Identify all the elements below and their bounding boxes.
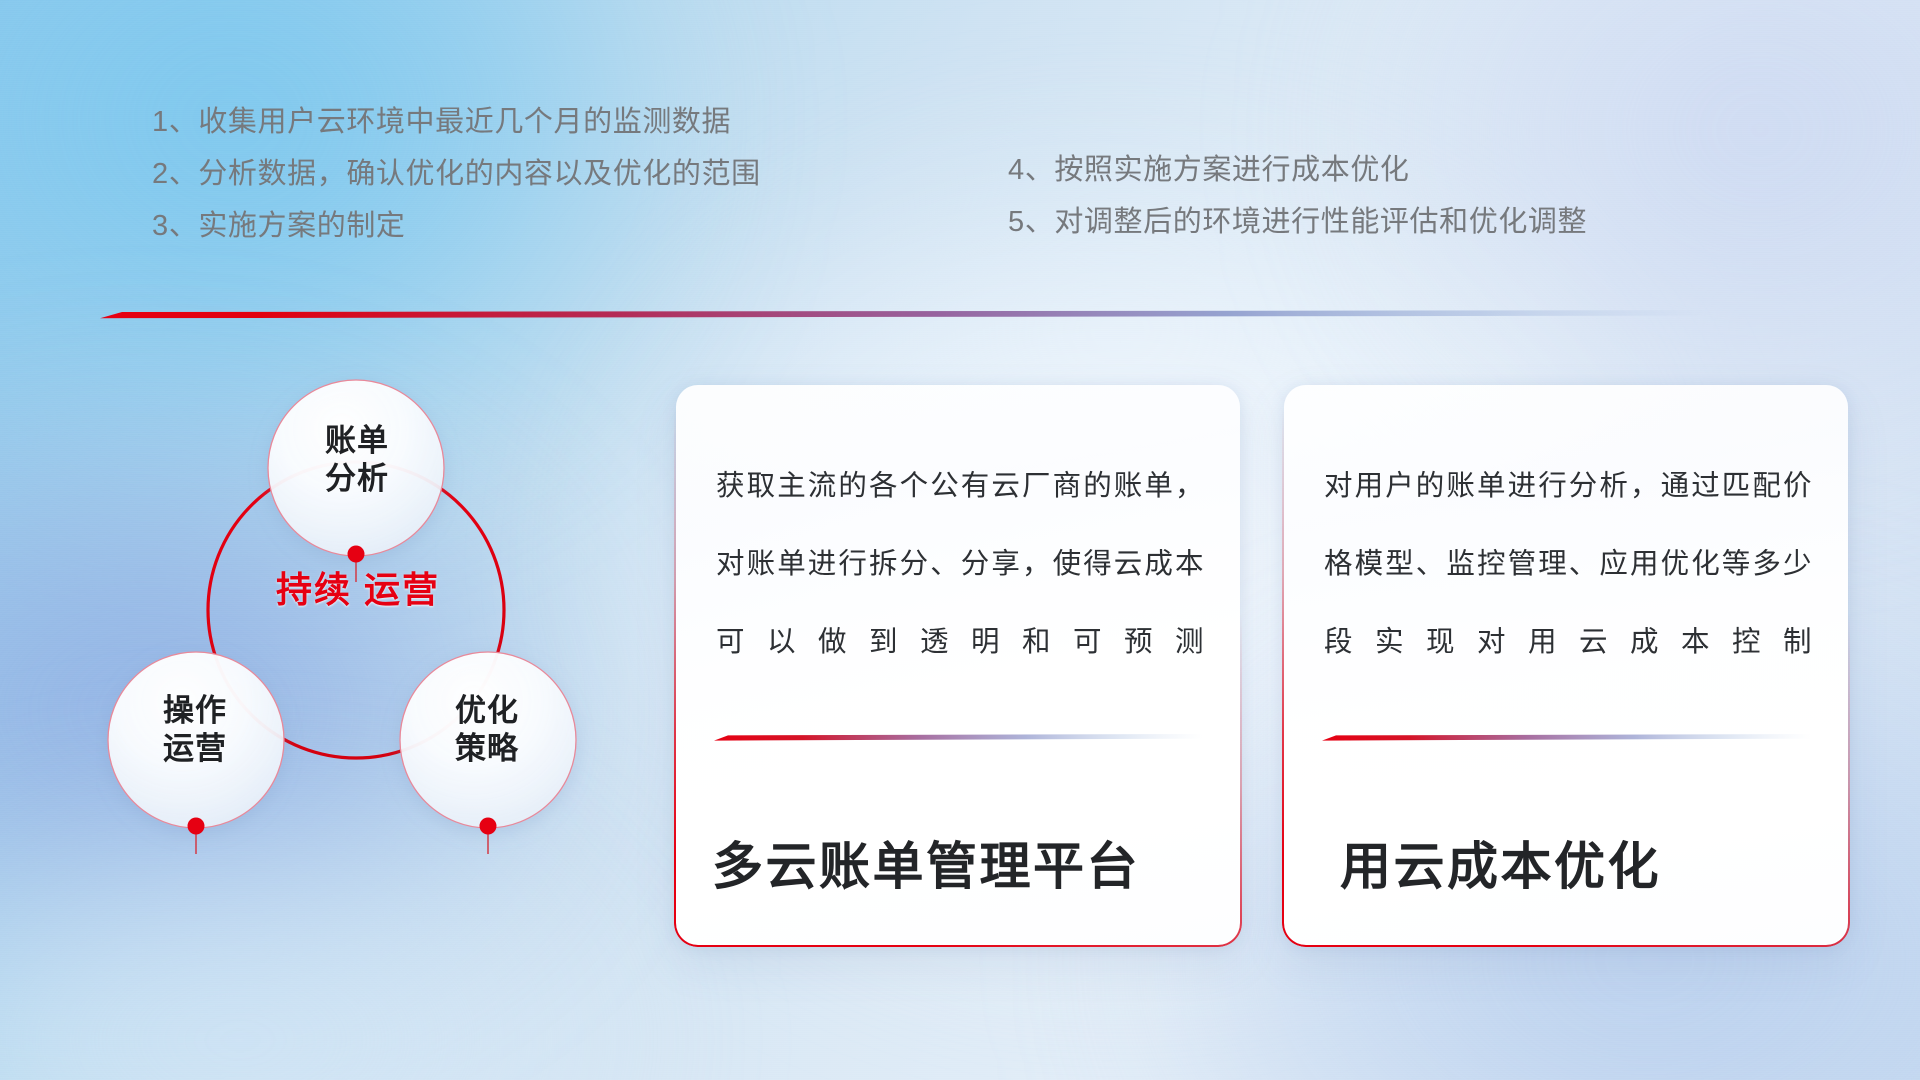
card-body: 获取主流的各个公有云厂商的账单，对账单进行拆分、分享，使得云成本可以做到透明和可…: [716, 447, 1204, 681]
bubble-label-line1: 优化: [455, 693, 519, 728]
card-title: 多云账单管理平台: [676, 825, 1240, 899]
bubble-label-line2: 运营: [120, 730, 270, 768]
process-step-2: 2、分析数据，确认优化的内容以及优化的范围: [152, 148, 761, 200]
bubble-label-line2: 分析: [282, 460, 432, 498]
connector-right: [480, 818, 497, 855]
card-body: 对用户的账单进行分析，通过匹配价格模型、监控管理、应用优化等多少段实现对用云成本…: [1324, 447, 1812, 681]
center-label-line2: 运营: [364, 569, 440, 610]
bubble-label-line2: 策略: [412, 730, 562, 768]
process-step-1: 1、收集用户云环境中最近几个月的监测数据: [152, 96, 761, 148]
diagram-center-label: 持续 运营: [276, 568, 438, 612]
card-accent-rule: [1322, 733, 1810, 742]
center-label-line1: 持续: [276, 569, 352, 610]
card-description: 获取主流的各个公有云厂商的账单，对账单进行拆分、分享，使得云成本可以做到透明和可…: [716, 447, 1204, 681]
process-step-4: 4、按照实施方案进行成本优化: [1008, 144, 1587, 196]
connector-left: [188, 818, 205, 855]
card-title: 用云成本优化: [1284, 825, 1848, 899]
feature-card-multi-cloud-billing[interactable]: 获取主流的各个公有云厂商的账单，对账单进行拆分、分享，使得云成本可以做到透明和可…: [676, 385, 1240, 945]
bubble-label-operations: 操作 运营: [120, 692, 270, 768]
bubble-label-optimization-strategy: 优化 策略: [412, 692, 562, 768]
process-step-3: 3、实施方案的制定: [152, 200, 761, 252]
continuous-operations-diagram: 账单 分析 操作 运营 优化 策略 持续 运营: [96, 350, 666, 960]
process-step-5: 5、对调整后的环境进行性能评估和优化调整: [1008, 196, 1587, 248]
card-accent-rule: [714, 733, 1202, 742]
process-steps-left-column: 1、收集用户云环境中最近几个月的监测数据 2、分析数据，确认优化的内容以及优化的…: [152, 96, 761, 252]
bubble-label-line1: 操作: [163, 693, 227, 728]
card-description: 对用户的账单进行分析，通过匹配价格模型、监控管理、应用优化等多少段实现对用云成本…: [1324, 447, 1812, 681]
feature-card-cloud-cost-optimization[interactable]: 对用户的账单进行分析，通过匹配价格模型、监控管理、应用优化等多少段实现对用云成本…: [1284, 385, 1848, 945]
bubble-label-billing-analysis: 账单 分析: [282, 422, 432, 498]
bubble-label-line1: 账单: [325, 423, 389, 458]
process-steps-right-column: 4、按照实施方案进行成本优化 5、对调整后的环境进行性能评估和优化调整: [1008, 144, 1587, 248]
